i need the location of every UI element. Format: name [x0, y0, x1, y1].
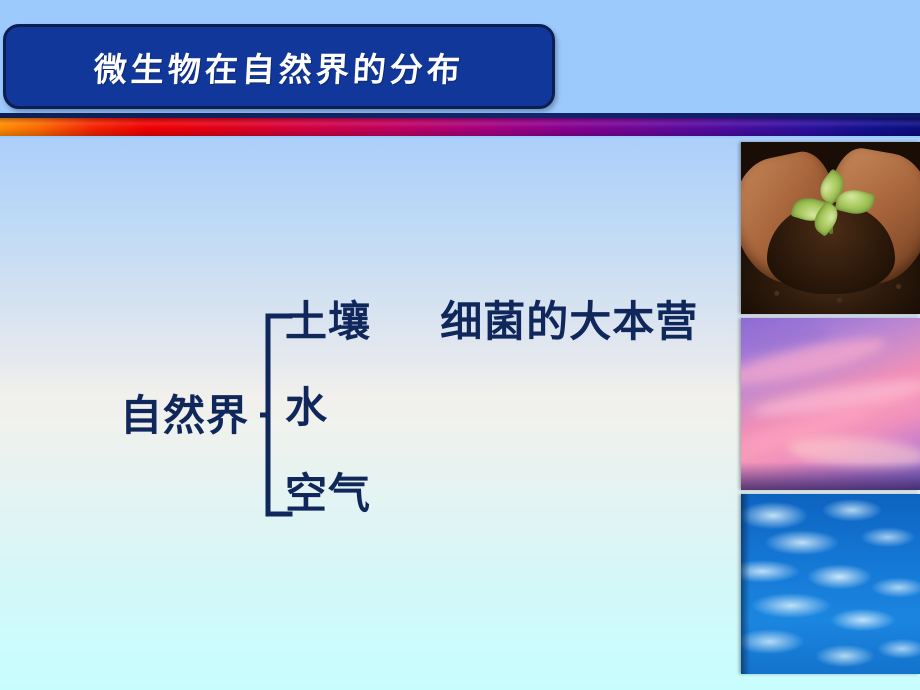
slide: 微生物在自然界的分布 自然界 土壤 细菌的大本营 水 空气	[0, 0, 920, 690]
water-photo-edge-shadow	[741, 494, 750, 674]
water-photo	[741, 494, 920, 674]
soil-photo	[741, 142, 920, 314]
sky-photo	[741, 318, 920, 490]
title-box: 微生物在自然界的分布	[3, 24, 555, 109]
diagram-branch-water: 水	[285, 382, 698, 468]
branch-term-water: 水	[285, 383, 328, 432]
photo-strip	[741, 142, 920, 674]
page-title: 微生物在自然界的分布	[93, 43, 466, 91]
branch-note-soil: 细菌的大本营	[440, 297, 698, 346]
water-photo-caustics	[741, 494, 920, 674]
diagram-root-label: 自然界	[120, 382, 249, 443]
diagram-branch-soil: 土壤 细菌的大本营	[285, 296, 698, 382]
diagram-branch-list: 土壤 细菌的大本营 水 空气	[285, 296, 698, 554]
diagram-branch-air: 空气	[285, 468, 698, 554]
branch-term-air: 空气	[285, 469, 371, 518]
branch-term-soil: 土壤	[285, 297, 371, 346]
sky-photo-horizon	[741, 462, 920, 490]
rainbow-divider-rule	[0, 118, 920, 136]
